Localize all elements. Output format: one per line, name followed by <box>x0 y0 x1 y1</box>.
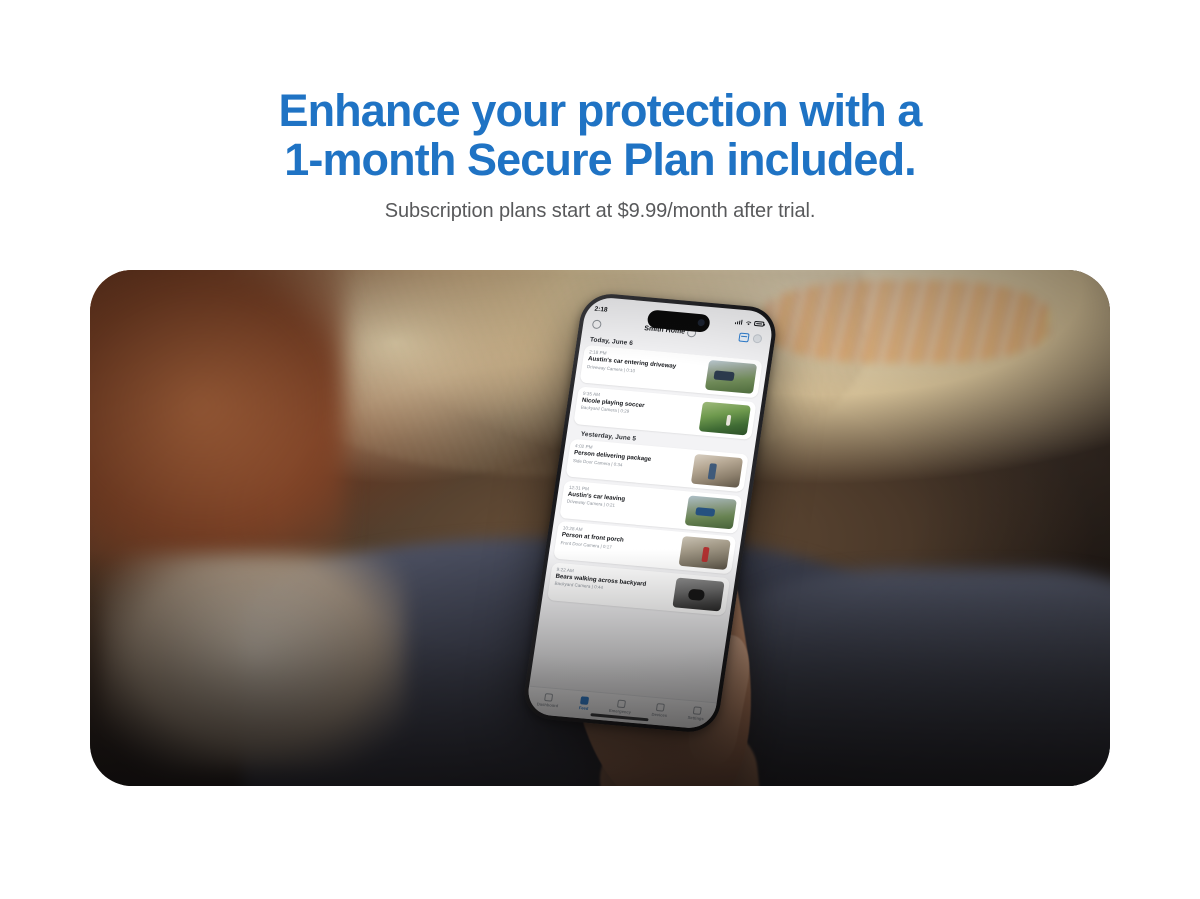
hero-card: 2:18 <box>90 270 1110 786</box>
headline-block: Enhance your protection with a 1-month S… <box>0 86 1200 184</box>
lifestyle-photo: 2:18 <box>90 270 1110 786</box>
page-title: Enhance your protection with a 1-month S… <box>0 86 1200 184</box>
photo-bottom-fade <box>90 549 1110 786</box>
headline-line-2: 1-month Secure Plan included. <box>0 135 1200 184</box>
subheadline: Subscription plans start at $9.99/month … <box>0 198 1200 224</box>
headline-line-1: Enhance your protection with a <box>278 85 921 136</box>
promo-page: Enhance your protection with a 1-month S… <box>0 0 1200 899</box>
